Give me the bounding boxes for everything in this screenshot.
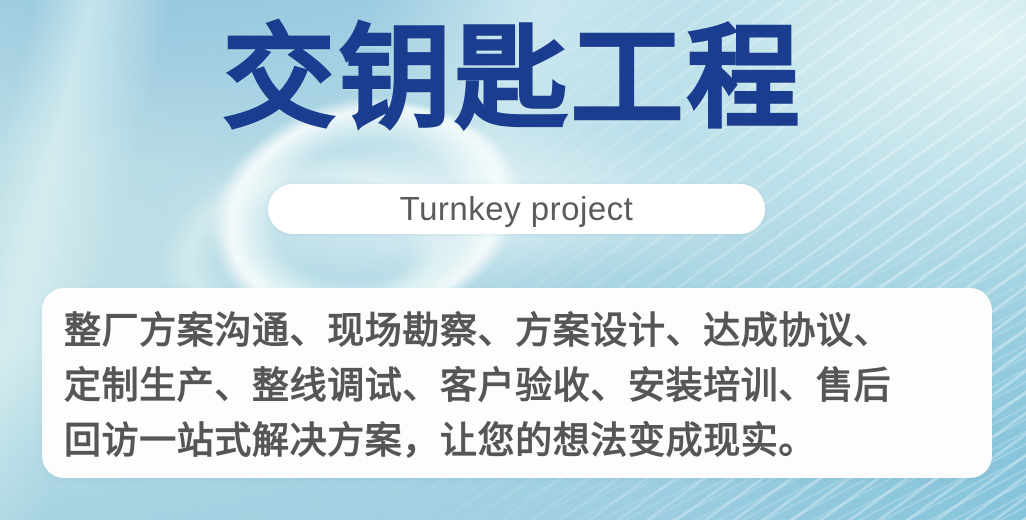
subtitle-pill: Turnkey project xyxy=(268,184,765,234)
description-line-3: 回访一站式解决方案，让您的想法变成现实。 xyxy=(64,413,966,468)
description-line-2: 定制生产、整线调试、客户验收、安装培训、售后 xyxy=(64,358,966,413)
banner-title: 交钥匙工程 xyxy=(0,16,1026,142)
turnkey-project-banner: 交钥匙工程 Turnkey project 整厂方案沟通、现场勘察、方案设计、达… xyxy=(0,0,1026,520)
banner-content: 交钥匙工程 Turnkey project 整厂方案沟通、现场勘察、方案设计、达… xyxy=(0,0,1026,520)
subtitle-text: Turnkey project xyxy=(400,190,634,228)
description-card: 整厂方案沟通、现场勘察、方案设计、达成协议、 定制生产、整线调试、客户验收、安装… xyxy=(42,288,992,478)
description-line-1: 整厂方案沟通、现场勘察、方案设计、达成协议、 xyxy=(64,303,966,358)
